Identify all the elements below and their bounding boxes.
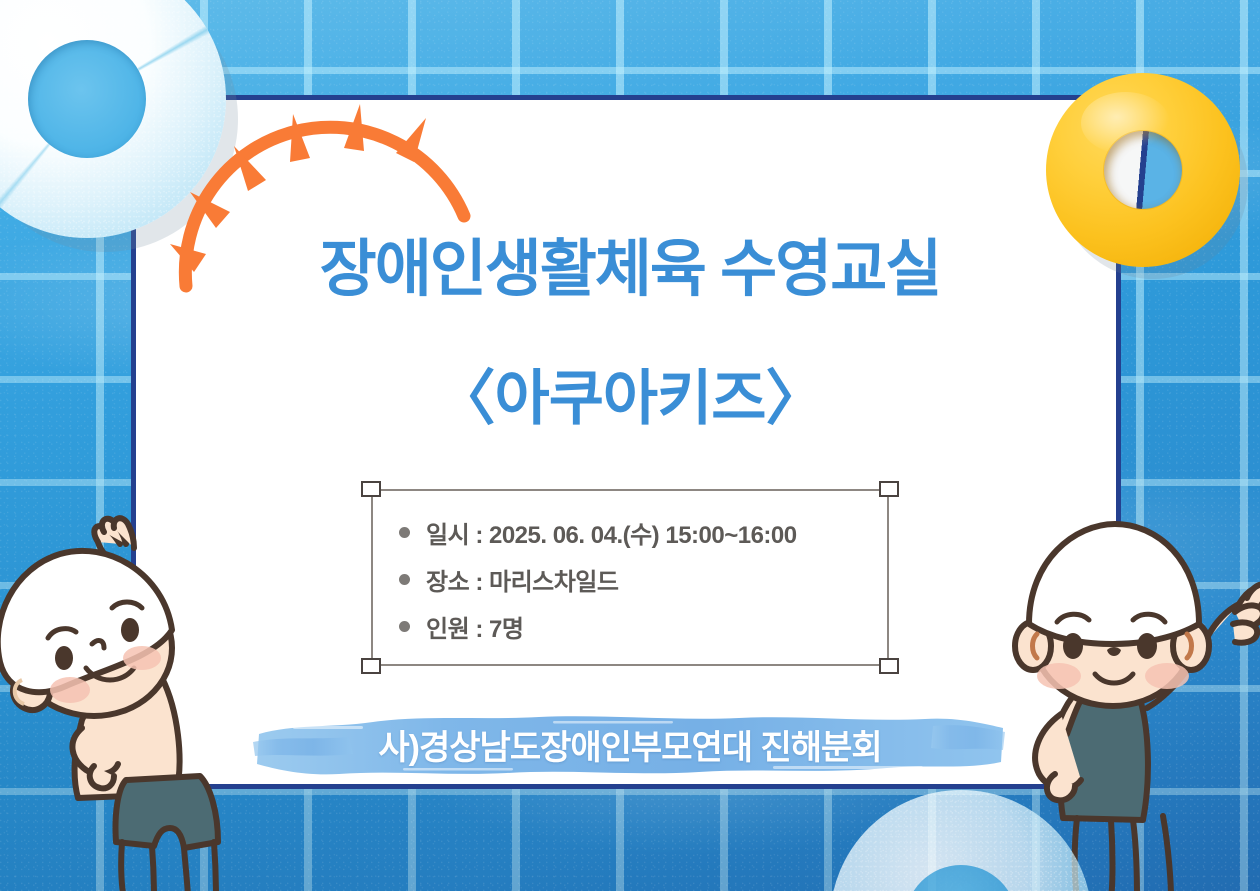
organization-banner: 사)경상남도장애인부모연대 진해분회 bbox=[253, 706, 1007, 784]
selection-edge-left bbox=[371, 489, 373, 666]
list-item: 일시 : 2025. 06. 04.(수) 15:00~16:00 bbox=[399, 509, 871, 556]
organization-name: 사)경상남도장애인부모연대 진해분회 bbox=[253, 706, 1007, 784]
poster-subtitle: 〈아쿠아키즈〉 bbox=[0, 350, 1260, 437]
bullet-dot-icon bbox=[399, 574, 410, 585]
resize-handle-top-right[interactable] bbox=[879, 481, 899, 497]
ring-inner-hole bbox=[1104, 131, 1182, 209]
resize-handle-bottom-right[interactable] bbox=[879, 658, 899, 674]
info-item-capacity: 인원 : 7명 bbox=[426, 609, 523, 644]
ring-highlight bbox=[1081, 92, 1170, 154]
info-item-location: 장소 : 마리스차일드 bbox=[426, 562, 618, 597]
poster-title: 장애인생활체육 수영교실 bbox=[0, 218, 1260, 308]
resize-handle-bottom-left[interactable] bbox=[361, 658, 381, 674]
info-item-schedule: 일시 : 2025. 06. 04.(수) 15:00~16:00 bbox=[426, 515, 797, 550]
selection-edge-top bbox=[371, 489, 889, 491]
info-bullet-list: 일시 : 2025. 06. 04.(수) 15:00~16:00 장소 : 마… bbox=[399, 509, 871, 650]
poster-canvas: 장애인생활체육 수영교실 〈아쿠아키즈〉 일시 : 2025. 06. 04.(… bbox=[0, 0, 1260, 891]
kid-stretching-icon bbox=[0, 498, 246, 891]
bullet-dot-icon bbox=[399, 621, 410, 632]
selection-edge-bottom bbox=[371, 664, 889, 666]
resize-handle-top-left[interactable] bbox=[361, 481, 381, 497]
list-item: 인원 : 7명 bbox=[399, 603, 871, 650]
poster-card-frame bbox=[131, 95, 1121, 789]
selection-edge-right bbox=[887, 489, 889, 666]
list-item: 장소 : 마리스차일드 bbox=[399, 556, 871, 603]
info-textbox-selection[interactable]: 일시 : 2025. 06. 04.(수) 15:00~16:00 장소 : 마… bbox=[371, 489, 889, 666]
bullet-dot-icon bbox=[399, 527, 410, 538]
